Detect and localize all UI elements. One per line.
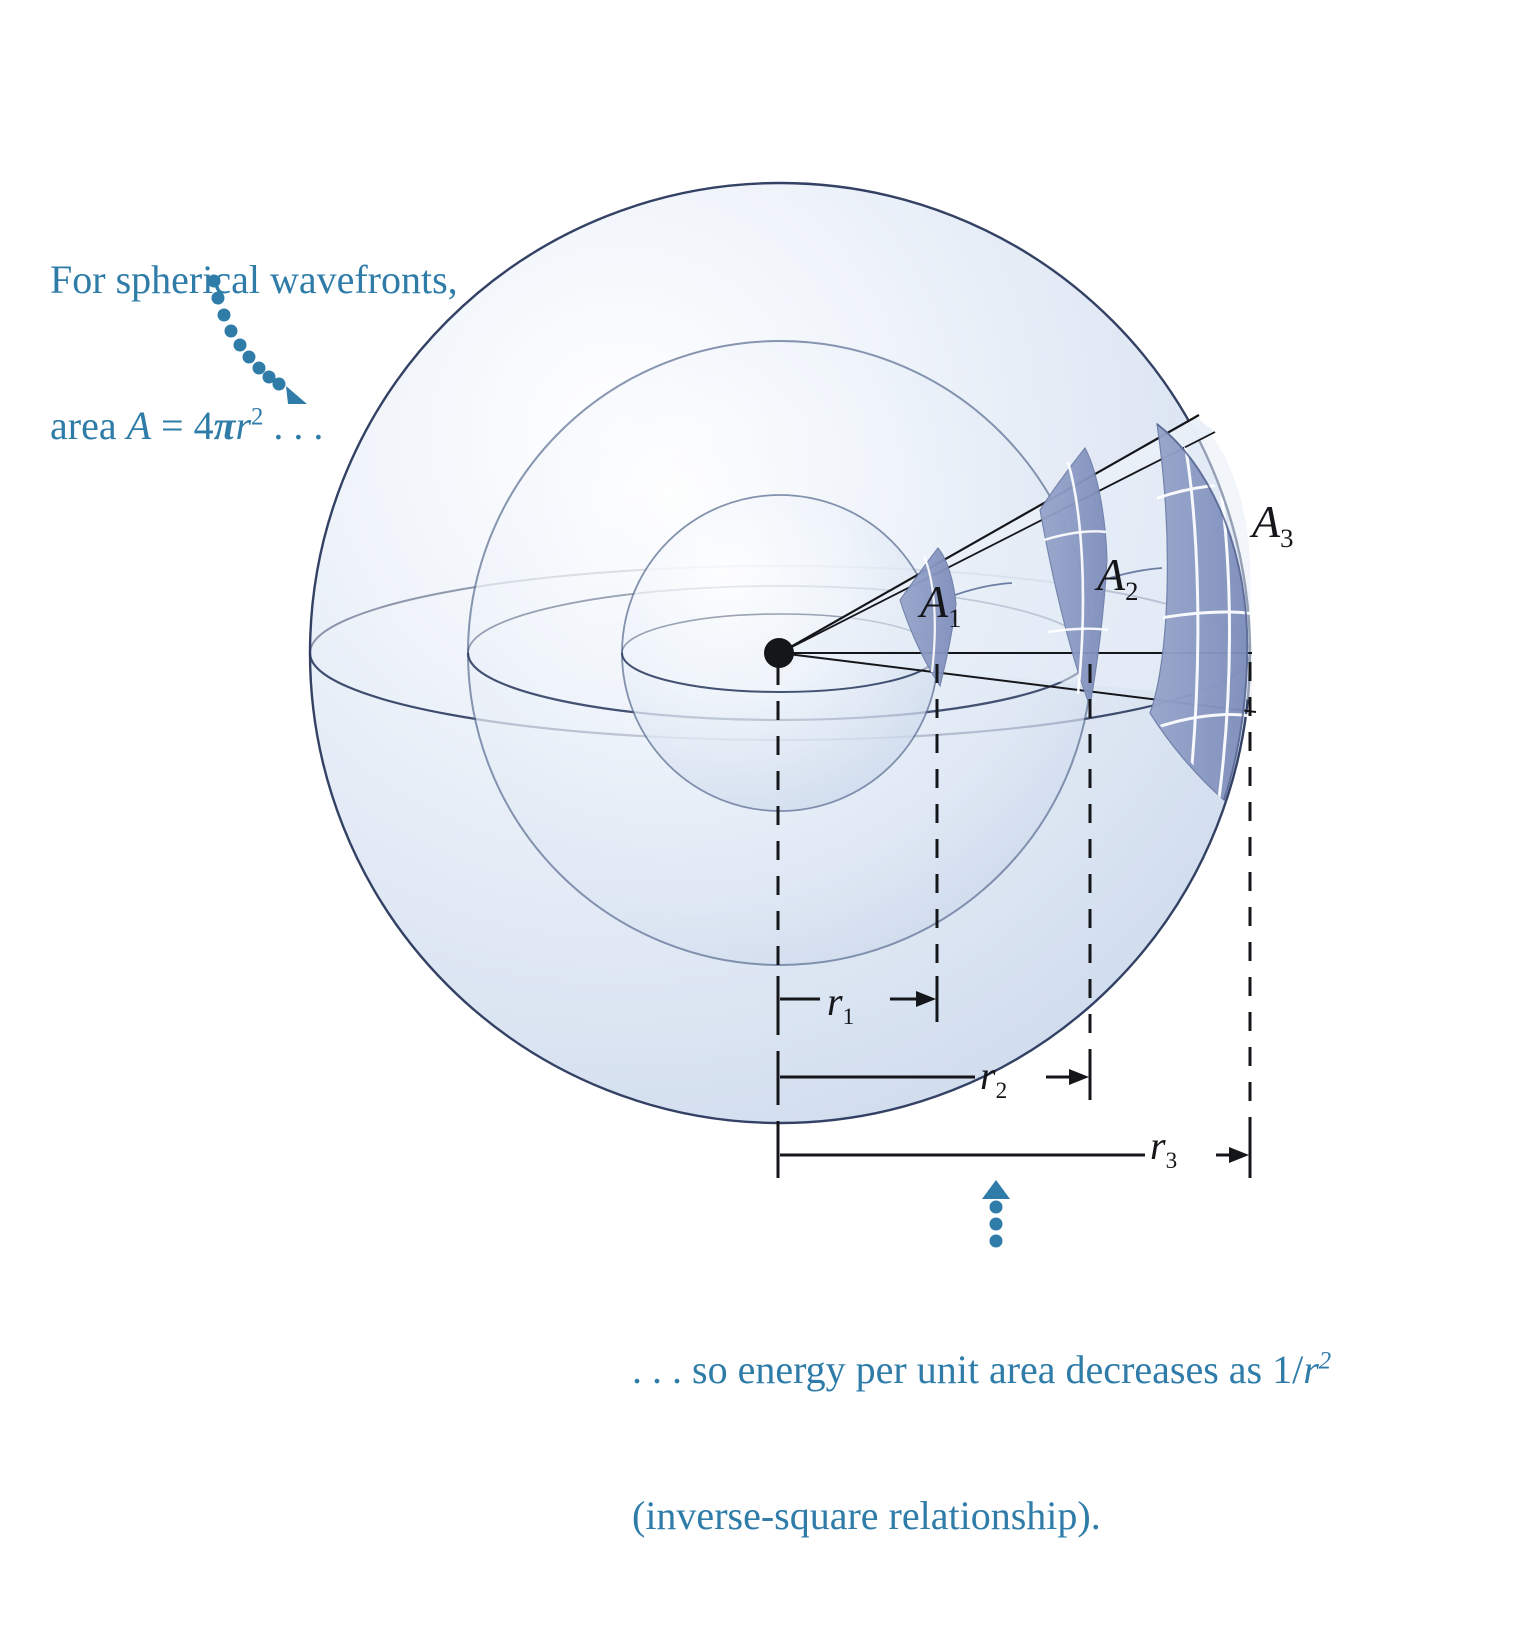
radius-label-r1-base: r (827, 979, 843, 1024)
caption-top-var-A: A (127, 403, 151, 448)
radius-label-r3: r3 (1150, 1122, 1177, 1175)
area-label-A2-sub: 2 (1125, 576, 1138, 606)
area-label-A3: A3 (1252, 495, 1293, 554)
area-label-A1-base: A (920, 576, 948, 627)
caption-bottom-line2: (inverse-square relationship). (632, 1492, 1331, 1541)
radius-label-r2-base: r (980, 1053, 996, 1098)
dimension-r3 (778, 1133, 1250, 1178)
radius-label-r3-sub: 3 (1166, 1148, 1178, 1174)
caption-top-var-r: r (235, 403, 251, 448)
caption-top-pi: π (214, 403, 236, 448)
caption-bottom-exponent: 2 (1319, 1347, 1331, 1374)
point-source-dot (764, 638, 794, 668)
caption-bottom-prefix: . . . so energy per unit area decreases … (632, 1347, 1303, 1392)
radius-label-r1-sub: 1 (843, 1004, 855, 1030)
caption-top-suffix: . . . (263, 403, 323, 448)
caption-top-line2: area A = 4πr2 . . . (50, 402, 458, 451)
caption-top-coeff: 4 (194, 403, 214, 448)
caption-top-prefix: area (50, 403, 127, 448)
area-label-A3-sub: 3 (1280, 523, 1293, 553)
caption-bottom-var-r: r (1303, 1347, 1319, 1392)
area-label-A2-base: A (1097, 549, 1125, 600)
area-label-A1: A1 (920, 575, 961, 634)
radius-label-r2-sub: 2 (996, 1078, 1008, 1104)
radius-label-r2: r2 (980, 1052, 1007, 1105)
caption-top: For spherical wavefronts, area A = 4πr2 … (50, 158, 458, 548)
area-label-A3-base: A (1252, 496, 1280, 547)
callout-arrow-bottom (982, 1180, 1010, 1248)
area-label-A2: A2 (1097, 548, 1138, 607)
radius-label-r3-base: r (1150, 1123, 1166, 1168)
figure-canvas: For spherical wavefronts, area A = 4πr2 … (0, 0, 1534, 1378)
caption-bottom: . . . so energy per unit area decreases … (632, 1248, 1331, 1638)
caption-top-line1: For spherical wavefronts, (50, 256, 458, 305)
radius-label-r1: r1 (827, 978, 854, 1031)
caption-top-equals: = (151, 403, 194, 448)
area-label-A1-sub: 1 (948, 603, 961, 633)
caption-top-exponent: 2 (251, 404, 263, 431)
caption-bottom-line1: . . . so energy per unit area decreases … (632, 1346, 1331, 1395)
